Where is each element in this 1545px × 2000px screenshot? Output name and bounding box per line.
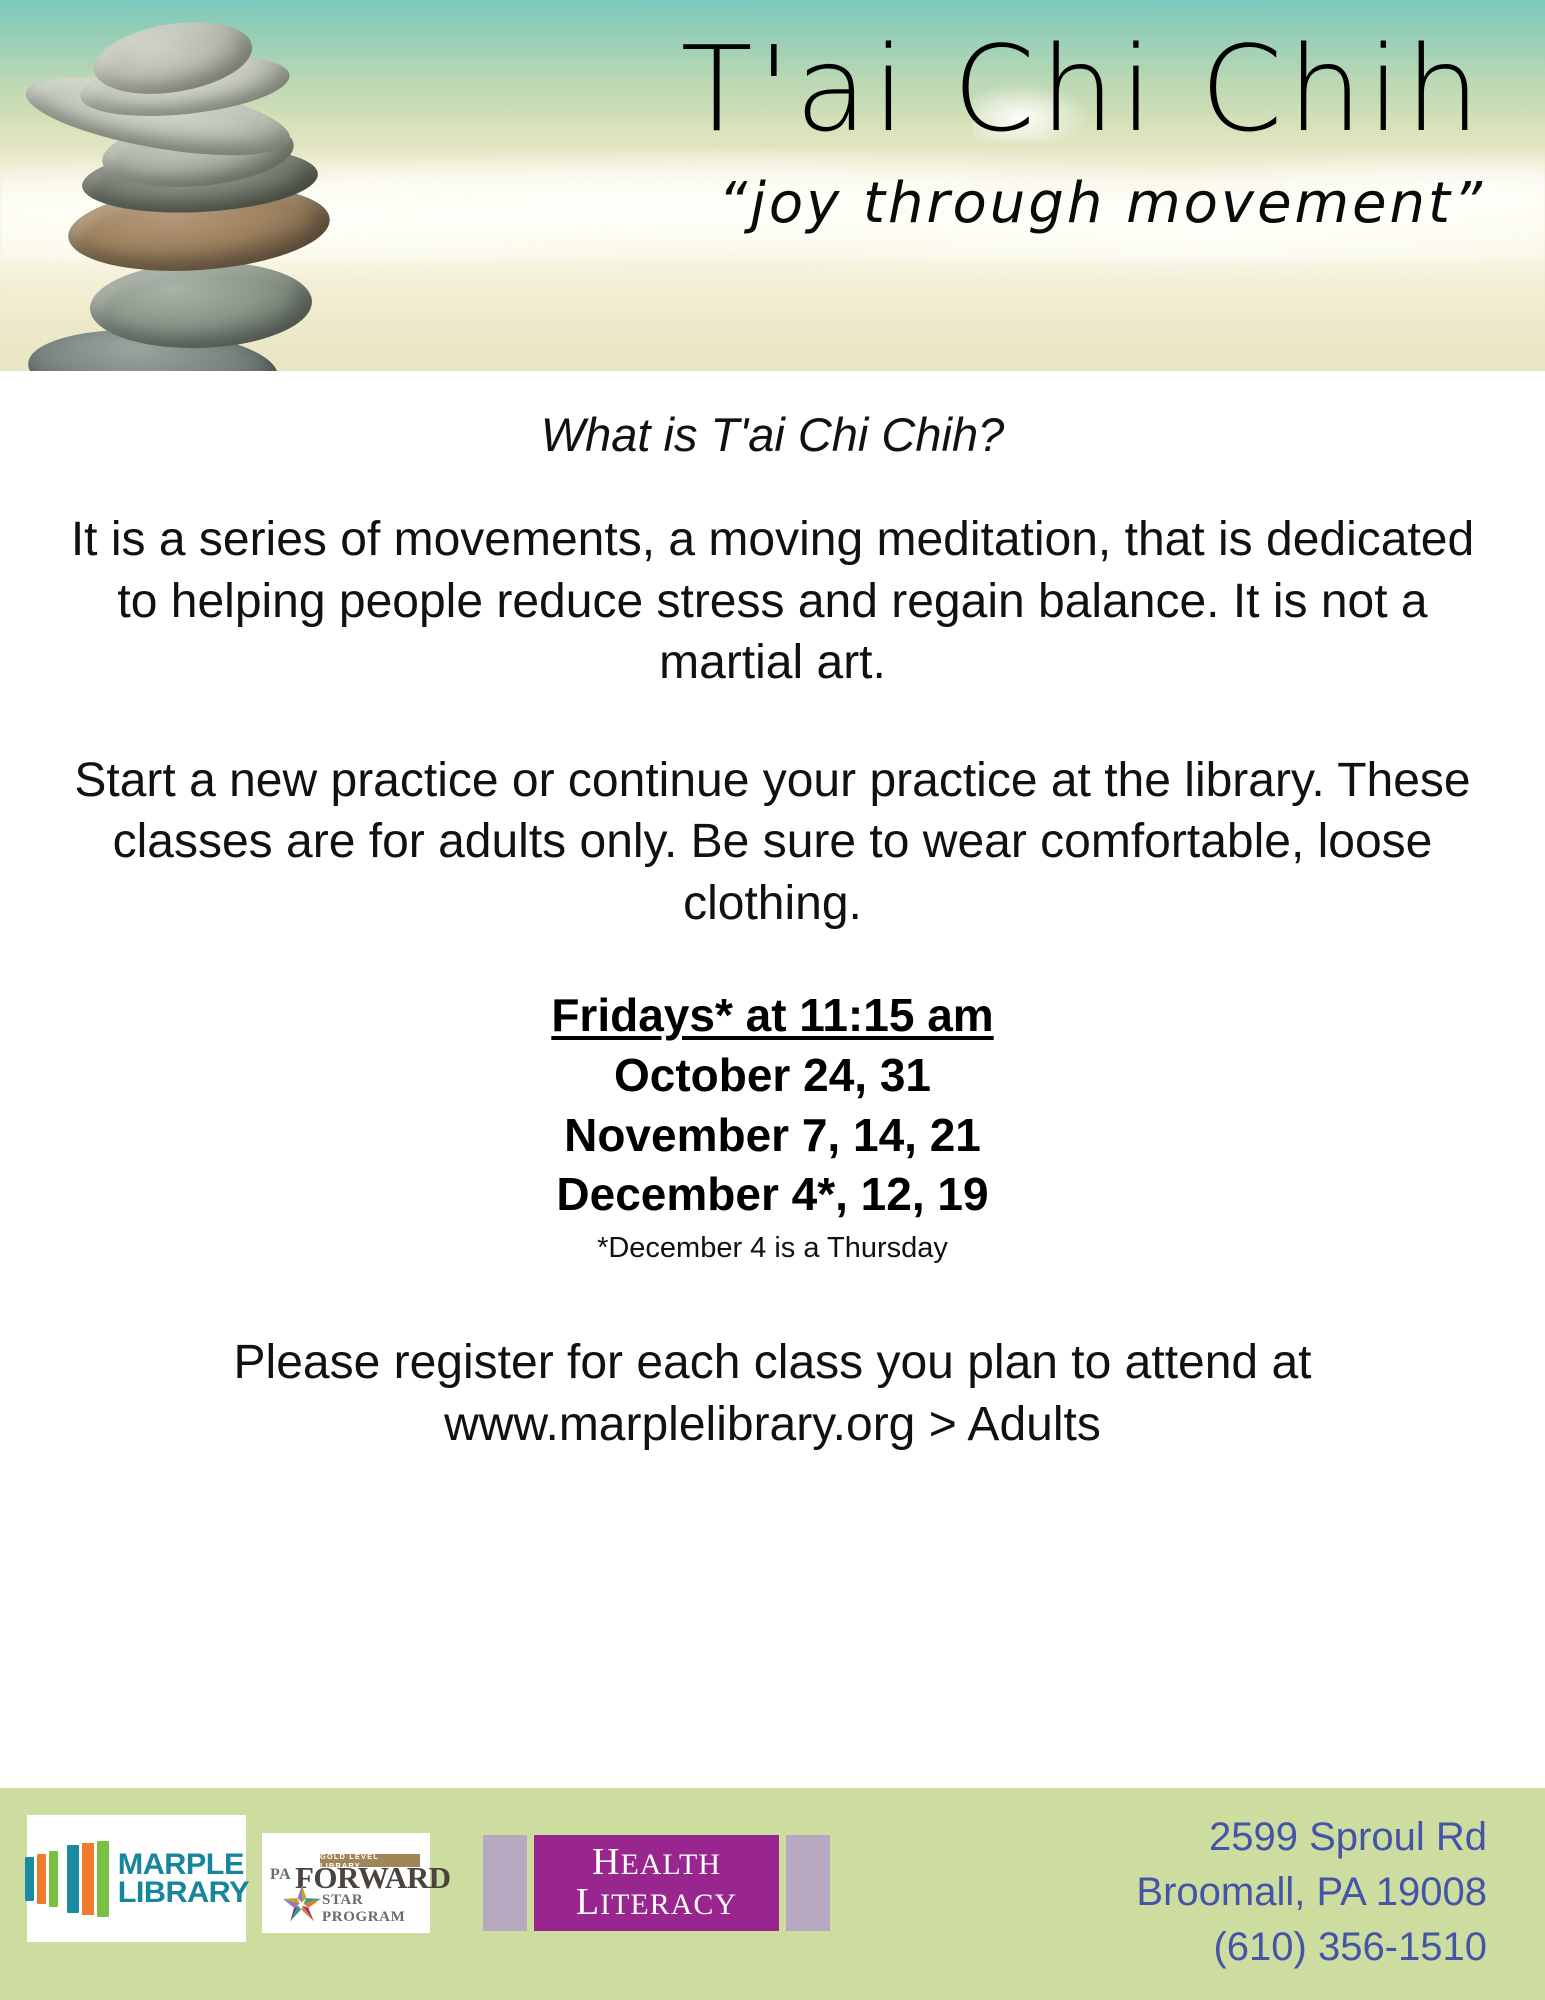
badge-right-gap (779, 1835, 786, 1931)
bar-5 (82, 1843, 94, 1915)
stone-7 (89, 258, 314, 352)
health-literacy-badge: HEALTH LITERACY (483, 1835, 830, 1931)
main-content: What is T'ai Chi Chih? It is a series of… (0, 371, 1545, 1785)
description-paragraph-1: It is a series of movements, a moving me… (48, 463, 1498, 693)
header-banner: T'ai Chi Chih “joy through movement” (0, 0, 1545, 371)
question-heading: What is T'ai Chi Chih? (0, 371, 1545, 463)
page-title: T'ai Chi Chih (485, 26, 1485, 153)
bar-3 (49, 1851, 58, 1907)
pa-text: PA (270, 1866, 291, 1884)
schedule-date-december: December 4*, 12, 19 (0, 1165, 1545, 1225)
stacked-stones-image (10, 0, 340, 371)
health-rest: EALTH (620, 1848, 721, 1881)
bar-1 (25, 1857, 34, 1901)
badge-left-bar (483, 1835, 527, 1931)
marple-book-bars-icon (25, 1842, 112, 1916)
schedule-date-november: November 7, 14, 21 (0, 1106, 1545, 1166)
marple-word: MARPLE (118, 1851, 249, 1879)
registration-block: Please register for each class you plan … (0, 1332, 1545, 1457)
bar-2 (37, 1854, 46, 1904)
literacy-word: LITERACY (576, 1883, 737, 1923)
pa-forward-logo: GOLD LEVEL LIBRARY PA FORWARD STAR PROGR… (262, 1833, 430, 1933)
address-phone[interactable]: (610) 356-1510 (1017, 1920, 1487, 1975)
marple-library-wordmark: MARPLE LIBRARY (119, 1851, 248, 1906)
bar-4 (67, 1845, 79, 1913)
health-initial: H (592, 1841, 620, 1883)
description-paragraph-2: Start a new practice or continue your pr… (48, 694, 1498, 934)
schedule-date-october: October 24, 31 (0, 1046, 1545, 1106)
schedule-heading: Fridays* at 11:15 am (0, 986, 1545, 1046)
marple-library-logo: MARPLE LIBRARY (27, 1815, 246, 1942)
health-word: HEALTH (592, 1843, 721, 1883)
badge-right-bar (786, 1835, 830, 1931)
address-street: 2599 Sproul Rd (1017, 1810, 1487, 1865)
footer-bar: MARPLE LIBRARY GOLD LEVEL LIBRARY PA FOR… (0, 1788, 1545, 2000)
star-icon (282, 1885, 322, 1923)
page-subtitle: “joy through movement” (485, 171, 1485, 236)
schedule-footnote: *December 4 is a Thursday (0, 1231, 1545, 1266)
bar-6 (97, 1841, 109, 1917)
literacy-rest: ITERACY (600, 1888, 737, 1921)
registration-url[interactable]: www.marplelibrary.org > Adults (0, 1394, 1545, 1456)
badge-left-gap (527, 1835, 534, 1931)
schedule-block: Fridays* at 11:15 am October 24, 31 Nove… (0, 986, 1545, 1266)
badge-center: HEALTH LITERACY (534, 1835, 779, 1931)
address-city-state-zip: Broomall, PA 19008 (1017, 1865, 1487, 1920)
literacy-initial: L (576, 1881, 600, 1923)
registration-instruction: Please register for each class you plan … (0, 1332, 1545, 1394)
library-address: 2599 Sproul Rd Broomall, PA 19008 (610) … (1017, 1810, 1487, 1976)
library-word: LIBRARY (118, 1879, 249, 1907)
banner-text-block: T'ai Chi Chih “joy through movement” (485, 26, 1485, 236)
star-program-text: STAR PROGRAM (322, 1892, 422, 1926)
